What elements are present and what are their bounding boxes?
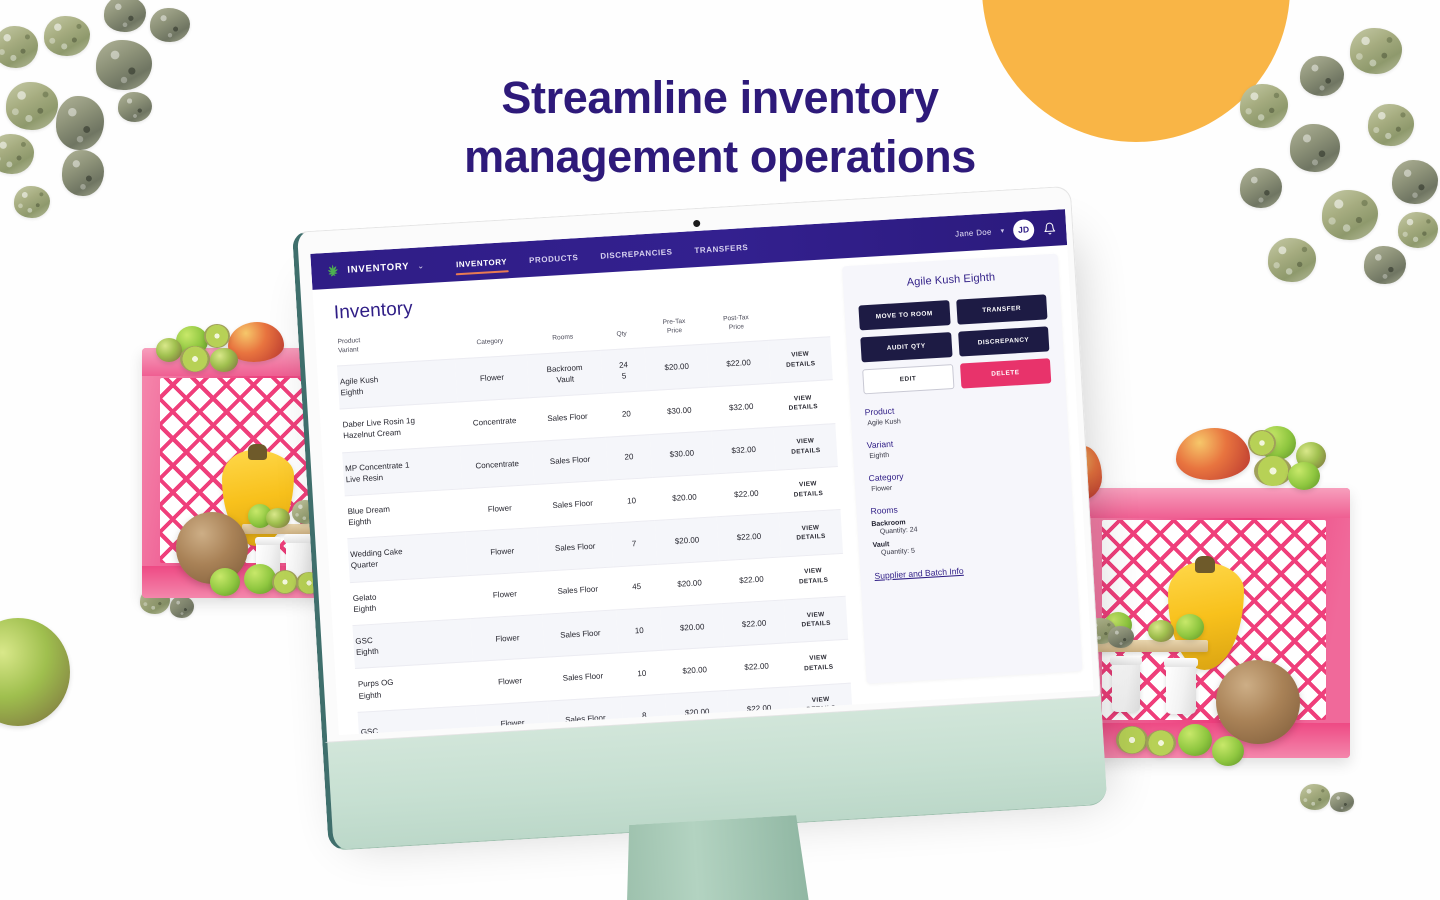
banana-stem (1195, 556, 1215, 573)
banana-stem (248, 444, 267, 459)
cell-rooms: Sales Floor (529, 393, 605, 441)
field-variant: Variant Eighth (866, 429, 1055, 460)
brand-label: INVENTORY (347, 261, 410, 276)
cell-qty-line: 45 (616, 580, 657, 594)
edit-button[interactable]: EDIT (862, 364, 954, 394)
crate-rim (1078, 488, 1350, 518)
cannabis-bud (150, 8, 190, 42)
cell-actions: VIEWDETAILS (771, 380, 835, 427)
cell-posttax-price: $22.00 (706, 340, 770, 387)
cell-room-line: Sales Floor (545, 626, 616, 641)
storage-jar (1166, 664, 1196, 714)
cell-qty-line: 5 (604, 369, 645, 383)
view-details-button[interactable]: VIEWDETAILS (784, 565, 843, 588)
storage-jar (1112, 662, 1140, 712)
cannabis-bud (1322, 190, 1378, 240)
cell-rooms: Sales Floor (532, 437, 608, 485)
mango-fruit (1176, 428, 1250, 480)
cell-actions: VIEWDETAILS (781, 553, 845, 600)
cell-category: Flower (470, 614, 544, 662)
cell-actions: VIEWDETAILS (773, 423, 837, 470)
cell-qty: 45 (613, 564, 659, 610)
chevron-down-icon: ⌄ (417, 261, 424, 270)
monitor-bezel: INVENTORY ⌄ INVENTORY PRODUCTS DISCREPAN… (292, 186, 1101, 743)
cell-pretax-price: $20.00 (662, 647, 726, 694)
hero-headline: Streamline inventory management operatio… (0, 68, 1440, 187)
view-details-button[interactable]: VIEWDETAILS (781, 522, 840, 545)
cell-posttax-price: $22.00 (717, 513, 781, 560)
cell-rooms: Sales Floor (545, 653, 621, 701)
cannabis-bud (14, 186, 50, 218)
lime-fruit (1176, 614, 1204, 640)
view-details-button[interactable]: VIEWDETAILS (779, 479, 838, 502)
cell-qty: 245 (601, 348, 647, 394)
view-details-line2: DETAILS (790, 661, 848, 674)
tab-transfers[interactable]: TRANSFERS (694, 232, 749, 262)
kiwi-fruit (210, 348, 238, 372)
kiwi-fruit (1248, 430, 1276, 456)
cell-qty-line: 7 (614, 537, 655, 551)
view-details-button[interactable]: VIEWDETAILS (786, 608, 845, 631)
cell-product-variant: Wedding CakeQuarter (347, 532, 467, 582)
cell-posttax-price: $32.00 (709, 384, 773, 431)
cell-qty-line: 10 (611, 494, 652, 508)
cell-qty-line: 20 (609, 450, 650, 464)
cell-posttax-price: $22.00 (719, 557, 783, 604)
view-details-line2: DETAILS (774, 402, 832, 415)
cell-qty: 7 (611, 521, 657, 567)
headline-line-1: Streamline inventory (0, 68, 1440, 127)
user-name-label[interactable]: Jane Doe (955, 227, 992, 238)
cannabis-bud (0, 26, 38, 68)
desktop-monitor: INVENTORY ⌄ INVENTORY PRODUCTS DISCREPAN… (292, 185, 1118, 861)
cell-actions: VIEWDETAILS (779, 510, 843, 557)
cell-room-line: Sales Floor (550, 711, 621, 726)
view-details-button[interactable]: VIEWDETAILS (776, 435, 835, 458)
cell-rooms: Sales Floor (534, 480, 610, 528)
cell-pretax-price: $20.00 (644, 344, 708, 391)
cannabis-leaf-icon (325, 263, 341, 279)
kiwi-fruit (1148, 620, 1174, 642)
cannabis-bud (44, 16, 90, 56)
cell-product-variant: Agile KushEighth (337, 359, 457, 409)
table-body: Agile KushEighthFlowerBackroomVault245$2… (337, 337, 853, 736)
cell-room-line: Sales Floor (543, 583, 614, 598)
view-details-button[interactable]: VIEWDETAILS (774, 392, 833, 415)
field-rooms: Rooms Backroom Quantity: 24 Vault Quanti… (870, 495, 1061, 557)
view-details-line2: DETAILS (784, 575, 842, 588)
cell-pretax-price: $30.00 (647, 387, 711, 434)
cell-rooms: Sales Floor (540, 567, 616, 615)
cell-rooms: BackroomVault (527, 350, 603, 398)
kiwi-fruit (1146, 730, 1176, 756)
cell-qty: 10 (616, 607, 662, 653)
detail-action-buttons: MOVE TO ROOM TRANSFER AUDIT QTY DISCREPA… (858, 294, 1051, 394)
cell-rooms: Sales Floor (537, 523, 613, 571)
cannabis-bud (170, 596, 194, 618)
page-body: Inventory Product Variant (312, 245, 1093, 735)
cell-posttax-price: $32.00 (712, 427, 776, 474)
cell-product: GSC (360, 720, 474, 735)
hero-scene: INVENTORY ⌄ INVENTORY PRODUCTS DISCREPAN… (0, 0, 1440, 900)
cannabis-bud (104, 0, 146, 32)
cell-category: Concentrate (457, 398, 531, 446)
col-header-posttax: Post-Tax Price (705, 313, 769, 344)
kiwi-fruit (272, 570, 298, 594)
cannabis-bud (1398, 212, 1438, 248)
cell-qty: 10 (608, 477, 654, 523)
cell-category: Flower (473, 658, 547, 706)
cell-actions: VIEWDETAILS (784, 596, 848, 643)
cell-posttax-price: $22.00 (722, 600, 786, 647)
kiwi-fruit (1254, 456, 1292, 486)
move-to-room-button[interactable]: MOVE TO ROOM (858, 300, 950, 330)
kiwi-fruit (0, 618, 70, 726)
cell-room-line: Sales Floor (535, 453, 606, 468)
cell-category: Flower (455, 355, 529, 403)
col-header-qty: Qty (599, 320, 645, 350)
cannabis-bud (1364, 246, 1406, 284)
col-header-actions (767, 309, 831, 340)
tab-discrepancies[interactable]: DISCREPANCIES (599, 237, 673, 268)
cannabis-bud (1268, 238, 1316, 282)
cell-product-variant: Blue DreamEighth (345, 489, 465, 539)
inventory-table: Product Variant Category Rooms Qty Pre-T… (335, 309, 853, 735)
view-details-line2: DETAILS (787, 618, 845, 631)
cell-room-line: Sales Floor (548, 669, 619, 684)
cell-actions: VIEWDETAILS (768, 337, 832, 384)
audit-qty-button[interactable]: AUDIT QTY (860, 332, 952, 362)
cell-pretax-price: $20.00 (652, 474, 716, 521)
cell-category: Flower (463, 484, 537, 532)
lime-fruit (1288, 462, 1320, 490)
cell-product-variant: Daber Live Rosin 1gHazelnut Cream (340, 402, 460, 452)
supplier-batch-info-link[interactable]: Supplier and Batch Info (874, 560, 1062, 581)
lime-fruit (1178, 724, 1212, 756)
app-screen: INVENTORY ⌄ INVENTORY PRODUCTS DISCREPAN… (310, 209, 1093, 735)
cell-category: Flower (468, 571, 542, 619)
cannabis-bud (1330, 792, 1354, 812)
cell-pretax-price: $20.00 (655, 517, 719, 564)
headline-line-2: management operations (0, 127, 1440, 186)
delete-button[interactable]: DELETE (959, 358, 1051, 388)
field-category: Category Flower (868, 462, 1057, 493)
cannabis-bud (1108, 626, 1134, 648)
view-details-line2: DETAILS (779, 488, 837, 501)
chevron-down-icon[interactable]: ▾ (1000, 227, 1004, 235)
lime-fruit (1212, 736, 1244, 766)
coconut-fruit (1216, 660, 1300, 744)
view-details-button[interactable]: VIEWDETAILS (789, 652, 848, 675)
cell-product-variant: GelatoEighth (350, 575, 470, 625)
brand-logo[interactable]: INVENTORY ⌄ (325, 258, 425, 279)
detail-title: Agile Kush Eighth (857, 268, 1045, 291)
cell-category: Flower (475, 701, 549, 735)
cell-posttax-price: $22.00 (724, 643, 788, 690)
field-product: Product Agile Kush (864, 396, 1053, 427)
cell-pretax-price: $30.00 (650, 430, 714, 477)
kiwi-fruit (204, 324, 230, 348)
cell-category: Concentrate (460, 441, 534, 489)
cannabis-bud (1300, 784, 1330, 810)
cell-qty: 20 (603, 391, 649, 437)
tab-products[interactable]: PRODUCTS (528, 243, 579, 273)
view-details-line2: DETAILS (772, 358, 830, 371)
cell-room-line: Sales Floor (532, 410, 603, 425)
cell-product-variant: Purps OGEighth (355, 662, 475, 712)
col-header-category: Category (453, 327, 526, 359)
kiwi-fruit (156, 338, 182, 362)
inventory-list-pane: Inventory Product Variant (312, 259, 862, 735)
cell-product-variant: GSCEighth (352, 619, 472, 669)
col-header-pretax: Pre-Tax Price (643, 317, 707, 348)
view-details-line2: DETAILS (782, 531, 840, 544)
cell-rooms: Sales Floor (542, 610, 618, 658)
view-details-line2: DETAILS (777, 445, 835, 458)
cell-posttax-price: $22.00 (714, 470, 778, 517)
kiwi-fruit (180, 346, 210, 372)
detail-pane: Agile Kush Eighth MOVE TO ROOM TRANSFER … (836, 245, 1094, 704)
webcam-icon (693, 220, 700, 227)
view-details-button[interactable]: VIEWDETAILS (771, 349, 830, 372)
cell-room-line: Sales Floor (540, 540, 611, 555)
cell-category: Flower (465, 528, 539, 576)
avatar[interactable]: JD (1013, 218, 1035, 240)
cell-qty: 10 (619, 651, 665, 697)
cell-actions: VIEWDETAILS (776, 466, 840, 513)
monitor-stand (618, 814, 815, 900)
transfer-button[interactable]: TRANSFER (956, 294, 1048, 324)
cell-product-variant: MP Concentrate 1Live Resin (342, 445, 462, 495)
cell-qty: 20 (606, 434, 652, 480)
cell-room-line: Sales Floor (537, 496, 608, 511)
kiwi-fruit (266, 508, 290, 528)
discrepancy-button[interactable]: DISCREPANCY (958, 326, 1050, 356)
cell-pretax-price: $20.00 (657, 560, 721, 607)
cell-qty-line: 10 (622, 667, 663, 681)
cell-qty-line: 20 (606, 407, 647, 421)
cell-actions: VIEWDETAILS (786, 640, 850, 687)
cell-qty-line: 10 (619, 624, 660, 638)
cell-qty-line: 8 (624, 709, 665, 723)
detail-card: Agile Kush Eighth MOVE TO ROOM TRANSFER … (842, 254, 1082, 684)
nav-right-cluster: Jane Doe ▾ JD (954, 217, 1056, 244)
notification-bell-icon[interactable] (1043, 220, 1057, 236)
lime-fruit (210, 568, 240, 596)
tab-inventory[interactable]: INVENTORY (455, 247, 508, 277)
cell-pretax-price: $20.00 (660, 604, 724, 651)
kiwi-fruit (1116, 726, 1148, 754)
